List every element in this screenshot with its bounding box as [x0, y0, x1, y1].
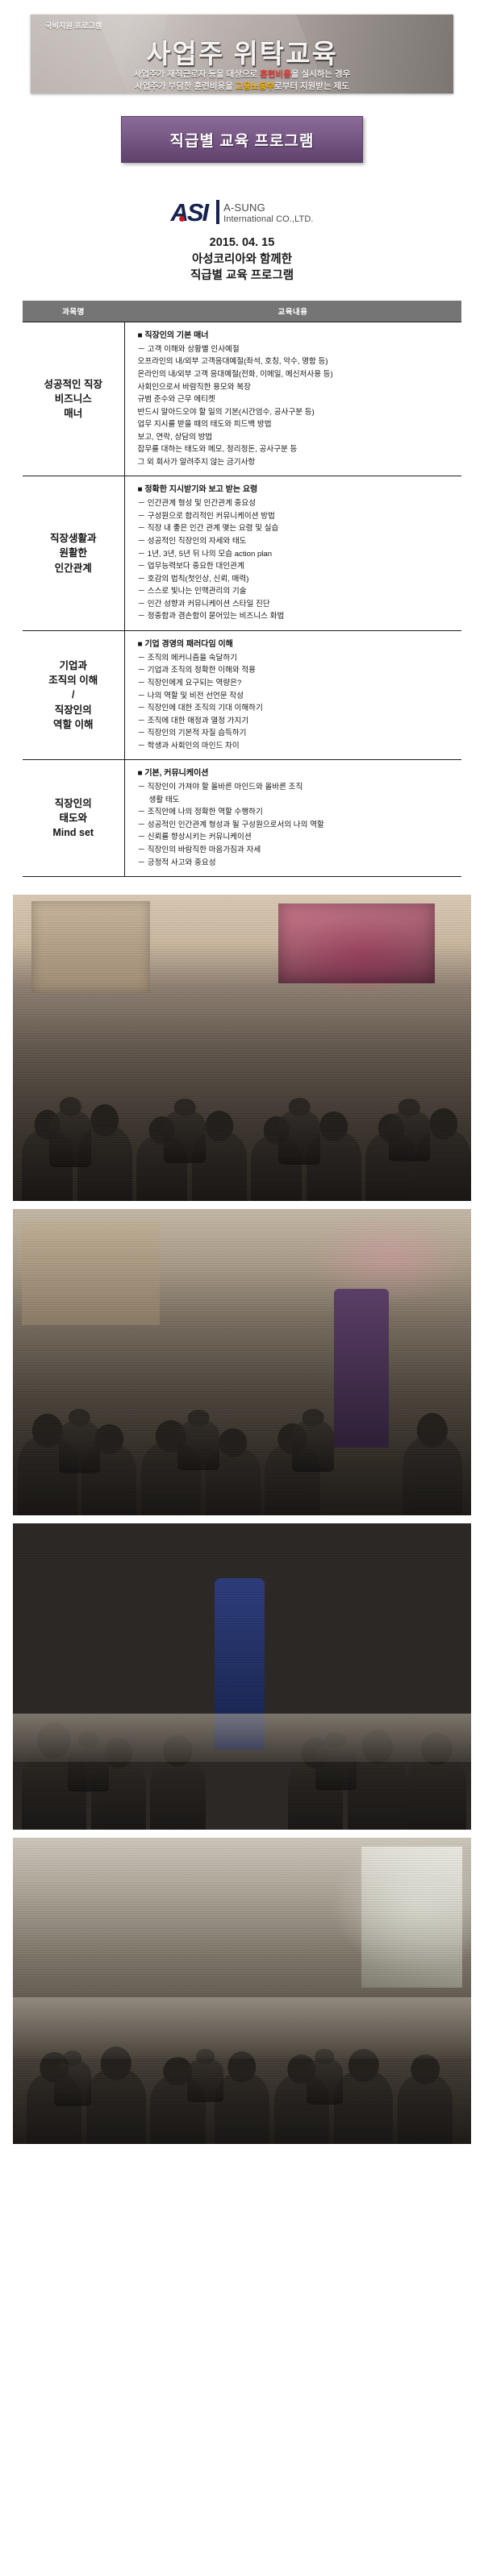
program-banner: 국비지원 프로그램 사업주 위탁교육 사업주가 재직근로자 등을 대상으로 훈련…	[31, 15, 453, 93]
content-item: － 조직안에 나의 정확한 역할 수행하기	[138, 806, 457, 819]
content-item: － 1년, 3년, 5년 뒤 나의 모습 action plan	[138, 548, 457, 561]
subject-line: 성공적인 직장	[26, 377, 121, 392]
content-item: － 직장인이 가져야 할 올바른 마인드와 올바른 조직	[138, 781, 457, 794]
subject-line: 태도와	[26, 811, 121, 825]
content-item: － 직장인의 바람직한 마음가짐과 자세	[138, 844, 457, 857]
subject-line: 직장인의	[26, 703, 121, 717]
banner-subtitle-1-highlight: 훈련비용	[260, 69, 291, 79]
content-heading: ■ 기업 경영의 패러다임 이해	[138, 638, 457, 651]
content-item: － 구성원으로 합리적인 커뮤니케이션 방법	[138, 510, 457, 523]
subject-line: 직장생활과	[26, 531, 121, 546]
banner-subtitle-1-pre: 사업주가 재직근로자 등을 대상으로	[134, 69, 261, 79]
content-item: 잡무를 대하는 태도와 메모, 정리정돈, 공사구분 등	[138, 443, 457, 456]
subject-cell: 직장생활과원활한인간관계	[23, 476, 124, 631]
content-item: － 업무능력보다 중요한 대인관계	[138, 560, 457, 573]
banner-subtitle-2-pre: 사업주가 부담한 훈련비용을	[135, 81, 236, 91]
content-item: － 조직에 대한 애정과 열정 가지기	[138, 715, 457, 728]
photo-3-grain	[13, 1523, 471, 1830]
content-item: － 조직의 메커니즘을 숙달하기	[138, 652, 457, 665]
banner-subtitle-1-post: 을 실시하는 경우	[291, 69, 350, 79]
program-table-head: 과목명 교육내용	[23, 301, 461, 322]
event-info: 2015. 04. 15 아성코리아와 함께한 직급별 교육 프로그램	[0, 231, 484, 297]
subject-line: 역할 이해	[26, 717, 121, 732]
photo-4-grain	[13, 1838, 471, 2144]
logo-divider-bar	[216, 200, 219, 224]
content-cell: ■ 기업 경영의 패러다임 이해－ 조직의 메커니즘을 숙달하기－ 기업과 조직…	[124, 630, 461, 759]
content-item: － 긍정적 사고와 중요성	[138, 857, 457, 870]
banner-subtitle-2-post: 로부터 지원받는 제도	[274, 81, 349, 91]
content-item: － 정중함과 겸손함이 묻어있는 비즈니스 화법	[138, 610, 457, 623]
content-cell: ■ 직장인의 기본 매너－ 고객 이해와 상황별 인사예절오프라인의 내/외부 …	[124, 322, 461, 476]
subject-line: Mind set	[26, 825, 121, 840]
content-item: － 인간 성향과 커뮤니케이션 스타일 진단	[138, 598, 457, 611]
content-item: － 호감의 법칙(첫인상, 신뢰, 매력)	[138, 573, 457, 586]
content-cell: ■ 정확한 지시받기와 보고 받는 요령－ 인간관계 형성 및 인간관계 중요성…	[124, 476, 461, 631]
classroom-presentation-photo-1	[13, 895, 471, 1201]
event-date: 2015. 04. 15	[0, 235, 484, 251]
banner-title: 사업주 위탁교육	[31, 32, 453, 71]
content-item: － 인간관계 형성 및 인간관계 중요성	[138, 497, 457, 510]
program-table-body: 성공적인 직장비즈니스매너■ 직장인의 기본 매너－ 고객 이해와 상황별 인사…	[23, 322, 461, 876]
subject-line: 인간관계	[26, 561, 121, 575]
content-cell: ■ 기본, 커뮤니케이션－ 직장인이 가져야 할 올바른 마인드와 올바른 조직…	[124, 760, 461, 877]
program-title-label: 직급별 교육 프로그램	[170, 129, 315, 151]
content-heading: ■ 직장인의 기본 매너	[138, 330, 457, 343]
content-item: 그 외 회사가 알려주지 않는 금기사항	[138, 456, 457, 469]
content-item: － 직장 내 좋은 인간 관계 맺는 요령 및 실습	[138, 522, 457, 535]
content-item: － 스스로 빛나는 인맥관리의 기술	[138, 585, 457, 598]
banner-tag-label: 국비지원 프로그램	[45, 20, 102, 31]
logo-company-suffix: International CO.,LTD.	[223, 214, 313, 224]
content-item: － 성공적인 직장인의 자세와 태도	[138, 535, 457, 548]
photo-2-grain	[13, 1209, 471, 1515]
banner-subtitle-2-highlight: 고용노동부	[236, 81, 274, 91]
content-item: 업무 지시를 받을 때의 태도와 피드백 방법	[138, 418, 457, 431]
banner-subtitle-line-2: 사업주가 부담한 훈련비용을 고용노동부로부터 지원받는 제도	[31, 80, 453, 92]
subject-line: 원활한	[26, 546, 121, 560]
content-item: － 직장인의 기본적 자질 습득하기	[138, 727, 457, 740]
table-header-row: 과목명 교육내용	[23, 301, 461, 322]
content-item: 온라인의 내/외부 고객 응대예절(전화, 이메일, 메신저사용 등)	[138, 368, 457, 381]
photo-1-grain	[13, 895, 471, 1201]
content-heading: ■ 기본, 커뮤니케이션	[138, 767, 457, 780]
content-item: 규범 준수와 근무 에티켓	[138, 393, 457, 406]
content-item: 반드시 알아드오야 할 일의 기본(시간엄수, 공사구분 등)	[138, 406, 457, 419]
subject-line: 비즈니스	[26, 392, 121, 406]
photo-2-attendees	[13, 1325, 471, 1515]
content-item: － 성공적인 인간관계 형성과 될 구성원으로서의 나의 역할	[138, 819, 457, 832]
logo-company-name: A-SUNG	[223, 202, 313, 214]
banner-section: 국비지원 프로그램 사업주 위탁교육 사업주가 재직근로자 등을 대상으로 훈련…	[0, 0, 484, 93]
content-item: 보고, 연락, 상담의 방법	[138, 431, 457, 444]
subject-line: 기업과	[26, 659, 121, 673]
content-item: － 고객 이해와 상황별 인사예절	[138, 343, 457, 356]
content-item: － 신뢰를 향상시키는 커뮤니케이션	[138, 831, 457, 844]
program-table-area: 과목명 교육내용 성공적인 직장비즈니스매너■ 직장인의 기본 매너－ 고객 이…	[0, 297, 484, 895]
table-row: 성공적인 직장비즈니스매너■ 직장인의 기본 매너－ 고객 이해와 상황별 인사…	[23, 322, 461, 476]
content-item: 생활 태도	[138, 794, 457, 807]
content-item: － 나의 역할 및 비전 선언문 작성	[138, 690, 457, 703]
classroom-wide-photo-4	[13, 1838, 471, 2144]
subject-cell: 성공적인 직장비즈니스매너	[23, 322, 124, 476]
banner-subtitle-line-1: 사업주가 재직근로자 등을 대상으로 훈련비용을 실시하는 경우	[31, 68, 453, 80]
photo-3-attendees	[13, 1639, 471, 1830]
content-item: － 직장인에게 요구되는 역량은?	[138, 677, 457, 690]
content-item: － 직장인에 대한 조직의 기대 이해하기	[138, 702, 457, 715]
photo-4-attendees	[13, 1954, 471, 2144]
event-client: 아성코리아와 함께한	[0, 251, 484, 268]
table-row: 직장인의태도와Mind set■ 기본, 커뮤니케이션－ 직장인이 가져야 할 …	[23, 760, 461, 877]
subject-line: 직장인의	[26, 796, 121, 811]
column-header-subject: 과목명	[23, 301, 124, 322]
photo-1-attendees	[13, 1011, 471, 1201]
content-item: － 기업과 조직의 정확한 이해와 적용	[138, 664, 457, 677]
content-item: 오프라인의 내/외부 고객응대예절(좌석, 호칭, 악수, 명함 등)	[138, 355, 457, 368]
asi-logo-mark: ASI	[170, 200, 210, 225]
subject-line: 조직의 이해	[26, 673, 121, 688]
subject-line: 매너	[26, 406, 121, 421]
logo-company-text: A-SUNG International CO.,LTD.	[223, 202, 313, 225]
table-row: 기업과조직의 이해/직장인의역할 이해■ 기업 경영의 패러다임 이해－ 조직의…	[23, 630, 461, 759]
classroom-instructor-photo-3	[13, 1523, 471, 1830]
classroom-presentation-photo-2	[13, 1209, 471, 1515]
program-table: 과목명 교육내용 성공적인 직장비즈니스매너■ 직장인의 기본 매너－ 고객 이…	[23, 301, 461, 877]
content-item: － 학생과 사회인의 마인드 차이	[138, 740, 457, 753]
event-program-name: 직급별 교육 프로그램	[0, 268, 484, 285]
photo-gallery	[0, 895, 484, 2158]
content-heading: ■ 정확한 지시받기와 보고 받는 요령	[138, 484, 457, 497]
subject-cell: 기업과조직의 이해/직장인의역할 이해	[23, 630, 124, 759]
section-title-area: 직급별 교육 프로그램	[0, 93, 484, 187]
subject-cell: 직장인의태도와Mind set	[23, 760, 124, 877]
company-logo: ASI A-SUNG International CO.,LTD.	[0, 187, 484, 231]
table-row: 직장생활과원활한인간관계■ 정확한 지시받기와 보고 받는 요령－ 인간관계 형…	[23, 476, 461, 631]
subject-line: /	[26, 688, 121, 702]
column-header-content: 교육내용	[124, 301, 461, 322]
program-title-box: 직급별 교육 프로그램	[121, 116, 363, 163]
content-item: 사회인으로서 바람직한 용모와 복장	[138, 381, 457, 394]
